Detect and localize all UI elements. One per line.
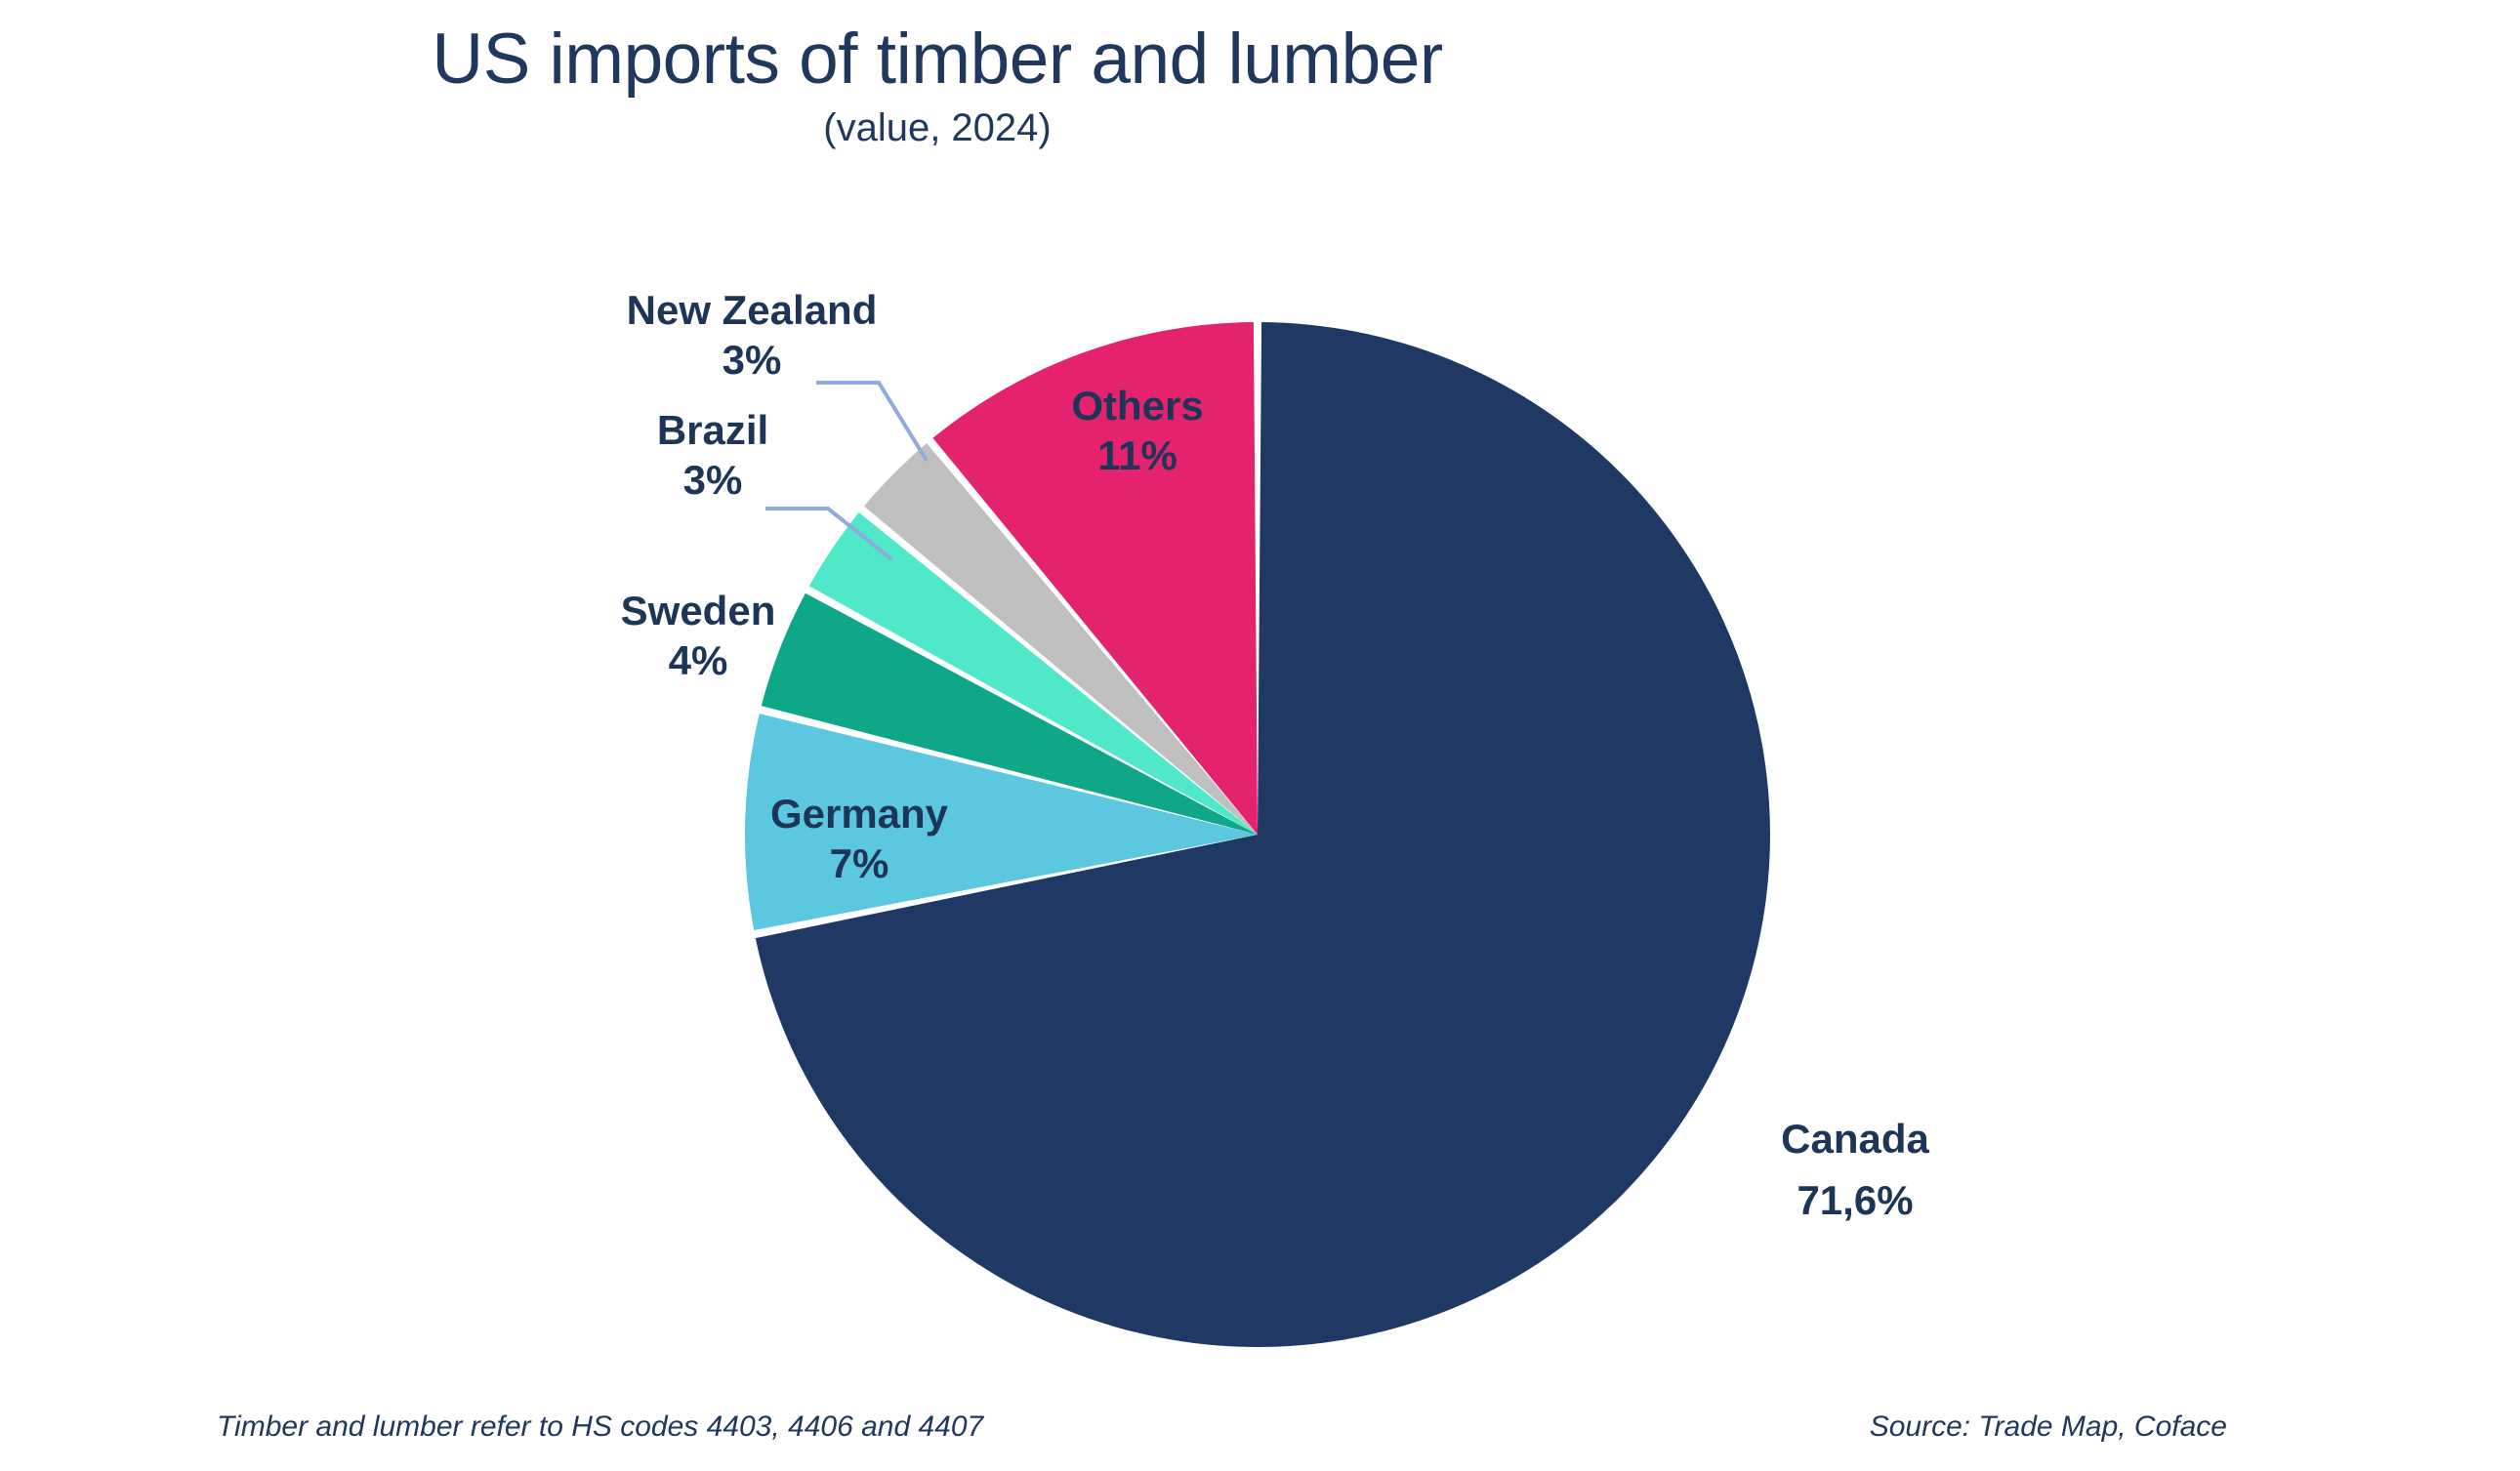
pie-label-sweden-value: 4%: [532, 635, 864, 685]
pie-label-others-value: 11%: [976, 430, 1299, 480]
pie-label-newzealand-value: 3%: [547, 335, 957, 385]
source-note: Source: Trade Map, Coface: [1870, 1410, 2227, 1444]
pie-label-canada-name: Canada: [1679, 1108, 2031, 1169]
pie-label-brazil-name: Brazil: [547, 405, 879, 455]
pie-label-germany: Germany 7%: [683, 789, 1035, 888]
footnote: Timber and lumber refer to HS codes 4403…: [217, 1410, 983, 1444]
pie-label-newzealand-name: New Zealand: [547, 285, 957, 335]
pie-label-sweden: Sweden 4%: [532, 586, 864, 685]
pie-label-canada-value: 71,6%: [1679, 1169, 2031, 1231]
pie-label-brazil-value: 3%: [547, 455, 879, 505]
pie-chart-figure: US imports of timber and lumber (value, …: [0, 0, 2520, 1471]
pie-label-others: Others 11%: [976, 381, 1299, 480]
pie-chart-svg: [0, 0, 2520, 1471]
pie-label-canada: Canada 71,6%: [1679, 1108, 2031, 1231]
pie-label-germany-name: Germany: [683, 789, 1035, 838]
pie-label-others-name: Others: [976, 381, 1299, 430]
pie-label-newzealand: New Zealand 3%: [547, 285, 957, 385]
pie-label-brazil: Brazil 3%: [547, 405, 879, 505]
pie-label-sweden-name: Sweden: [532, 586, 864, 635]
pie-label-germany-value: 7%: [683, 838, 1035, 888]
